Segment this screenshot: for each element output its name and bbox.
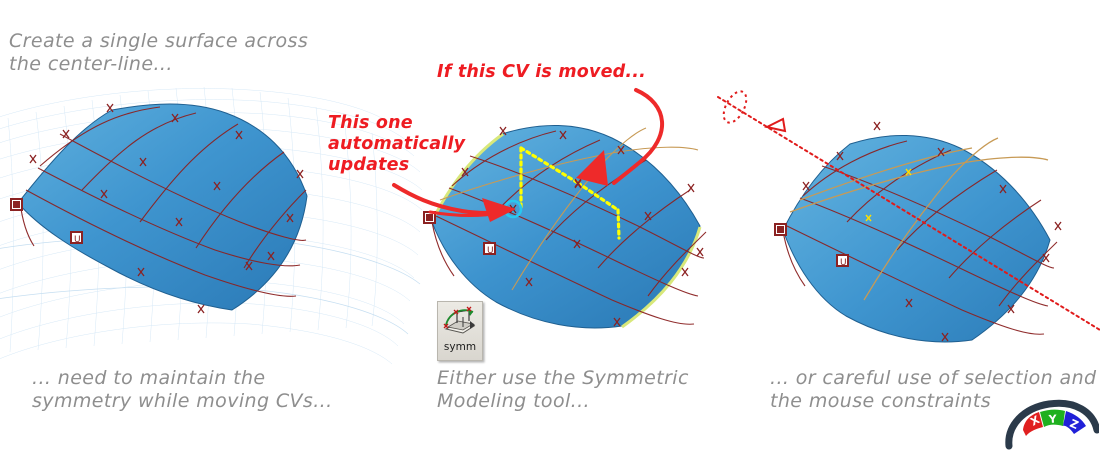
right-nurbs-surface[interactable]: U	[718, 88, 1100, 342]
caption-top-left: Create a single surface across the cente…	[9, 30, 308, 76]
caption-bottom-left: ... need to maintain the symmetry while …	[32, 367, 333, 413]
symm-tool-button[interactable]: symm	[437, 301, 483, 361]
middle-nurbs-surface[interactable]: U	[424, 125, 706, 327]
caption-bottom-middle: Either use the Symmetric Modeling tool..…	[437, 367, 689, 413]
symm-tool-label: symm	[444, 341, 476, 353]
svg-text:U: U	[487, 246, 494, 256]
annotation-cv-moved: If this CV is moved...	[437, 62, 646, 83]
symmetric-modeling-icon	[440, 303, 480, 339]
svg-text:U: U	[74, 235, 81, 245]
view-orientation-cube-icon[interactable]: X Y Z	[1003, 396, 1099, 450]
left-nurbs-surface[interactable]: U	[11, 104, 307, 313]
annotation-auto-updates: This one automatically updates	[328, 113, 465, 176]
svg-text:U: U	[840, 258, 847, 268]
illustration-stage: U	[0, 0, 1100, 450]
